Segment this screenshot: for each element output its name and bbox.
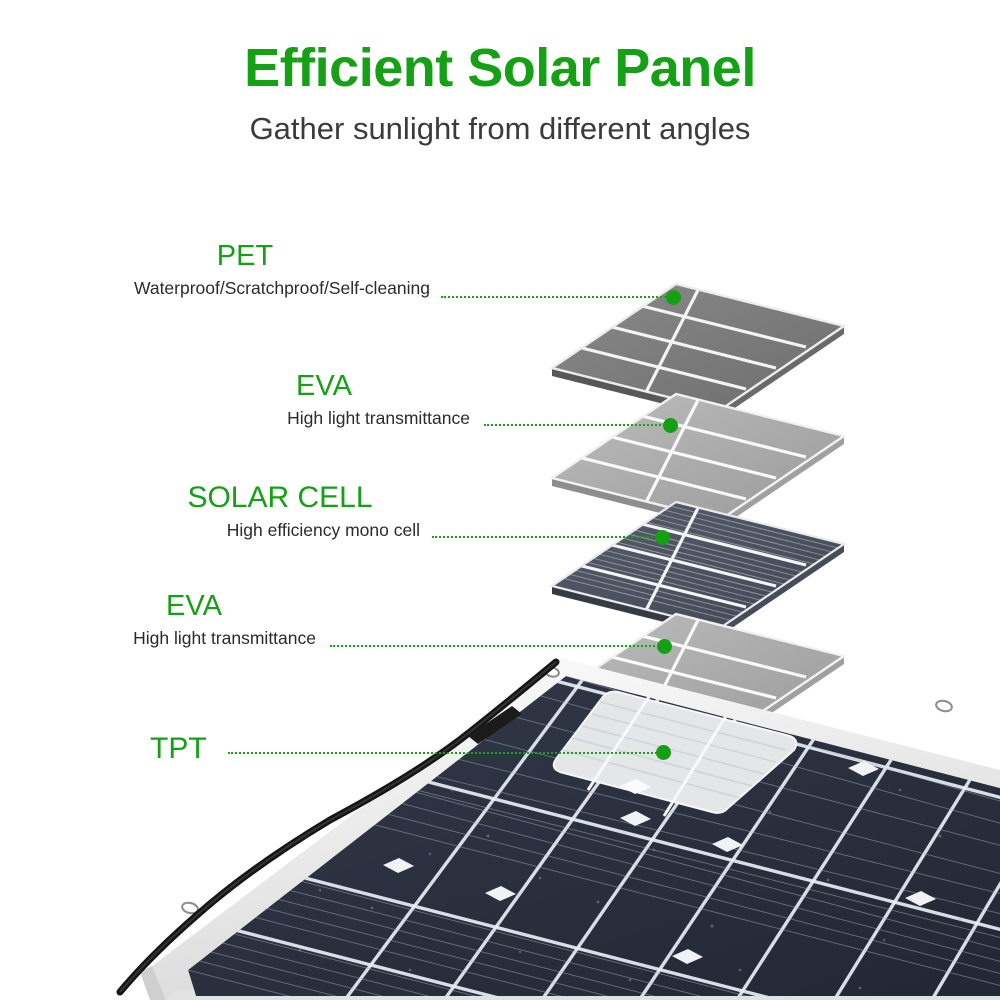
layer-label-eva-top: EVA bbox=[178, 372, 470, 401]
header: Efficient Solar Panel Gather sunlight fr… bbox=[0, 0, 1000, 146]
solar-panel-graphic bbox=[0, 640, 1000, 1000]
callout-tpt: TPT bbox=[150, 734, 230, 764]
leader-line-eva-top bbox=[484, 424, 669, 426]
layer-desc-pet: Waterproof/Scratchproof/Self-cleaning bbox=[60, 280, 430, 298]
main-solar-panel bbox=[0, 640, 1000, 1000]
callout-solar-cell: SOLAR CELL High efficiency mono cell bbox=[140, 483, 420, 540]
page-subtitle: Gather sunlight from different angles bbox=[0, 97, 1000, 147]
layer-label-solar-cell: SOLAR CELL bbox=[140, 483, 420, 513]
connector-dot-solar-cell bbox=[655, 530, 670, 545]
leader-line-tpt bbox=[228, 752, 660, 754]
connector-dot-eva-bottom bbox=[657, 639, 672, 654]
layer-label-eva-bottom: EVA bbox=[72, 592, 316, 621]
callout-eva-top: EVA High light transmittance bbox=[178, 372, 470, 428]
callout-eva-bottom: EVA High light transmittance bbox=[72, 592, 316, 648]
page-title: Efficient Solar Panel bbox=[0, 0, 1000, 97]
layer-desc-eva-bottom: High light transmittance bbox=[72, 630, 316, 648]
leader-line-eva-bottom bbox=[330, 645, 662, 647]
leader-line-solar-cell bbox=[432, 536, 660, 538]
connector-dot-eva-top bbox=[663, 418, 678, 433]
infographic-canvas: Efficient Solar Panel Gather sunlight fr… bbox=[0, 0, 1000, 1000]
layer-label-pet: PET bbox=[60, 242, 430, 271]
leader-line-pet bbox=[441, 296, 669, 298]
layer-desc-solar-cell: High efficiency mono cell bbox=[140, 522, 420, 540]
layer-desc-eva-top: High light transmittance bbox=[178, 410, 470, 428]
layer-label-tpt: TPT bbox=[150, 734, 230, 764]
connector-dot-pet bbox=[666, 290, 681, 305]
connector-dot-tpt bbox=[656, 745, 671, 760]
callout-pet: PET Waterproof/Scratchproof/Self-cleanin… bbox=[60, 242, 430, 298]
